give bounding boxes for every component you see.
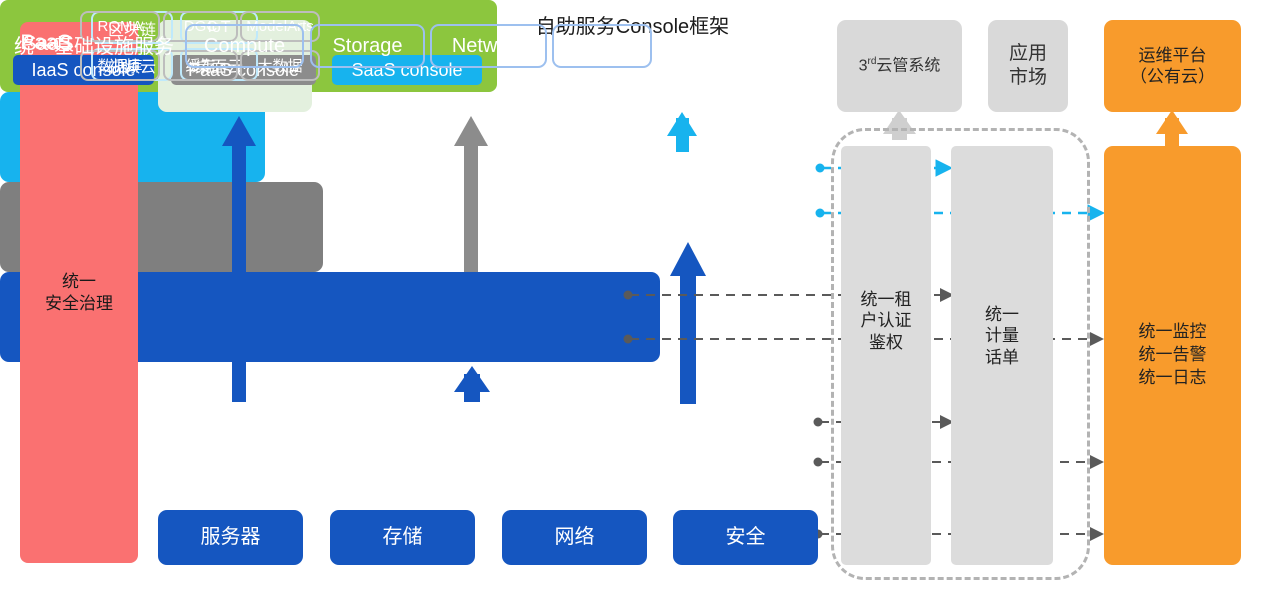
third-party-cloud-management-box: 3rd云管系统 — [837, 20, 962, 112]
infra-chip-compute[interactable]: Compute — [185, 24, 304, 68]
arrow-infra-to-paas — [454, 366, 490, 402]
resource-box-network[interactable]: 网络 — [502, 510, 647, 565]
arrow-saas-to-saas-console — [667, 112, 697, 152]
auth-column: 统一租户认证鉴权 — [841, 146, 931, 565]
resource-box-storage[interactable]: 存储 — [330, 510, 475, 565]
arrow-to-ops-platform — [1156, 110, 1188, 146]
infra-chip-storage[interactable]: Storage — [310, 24, 425, 68]
monitoring-panel: 统一监控统一告警统一日志 — [1104, 146, 1241, 565]
metering-column: 统一计量话单 — [951, 146, 1053, 565]
resource-box-security[interactable]: 安全 — [673, 510, 818, 565]
arrow-paas-to-console — [454, 116, 488, 272]
ops-platform-box: 运维平台（公有云） — [1104, 20, 1241, 112]
third-cloud-label: 3rd云管系统 — [859, 56, 941, 76]
infra-chip-network[interactable]: Network — [430, 24, 547, 68]
metering-column-label: 统一计量话单 — [951, 304, 1053, 368]
architecture-diagram: 统一租户认证鉴权 统一计量话单 统一安全治理 API网关 自助服务Console… — [0, 0, 1265, 605]
arrow-infra-to-saas — [670, 242, 706, 404]
security-governance-panel: 统一安全治理 — [20, 22, 138, 563]
resource-box-server[interactable]: 服务器 — [158, 510, 303, 565]
infra-chip-cce[interactable]: CCE — [552, 24, 652, 68]
auth-column-label: 统一租户认证鉴权 — [841, 289, 931, 353]
app-market-box: 应用市场 — [988, 20, 1068, 112]
infrastructure-service-label: 统一基础设施服务 — [14, 30, 174, 59]
